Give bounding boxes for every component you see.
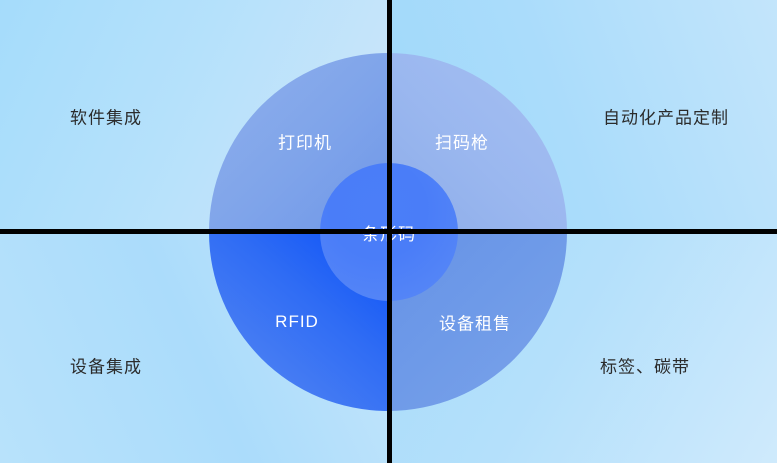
- outer-label-software-integration: 软件集成: [70, 104, 142, 129]
- outer-label-equipment-integration: 设备集成: [70, 353, 142, 378]
- diagram-canvas: 条形码 打印机 扫码枪 RFID 设备租售 软件集成 自动化产品定制 设备集成 …: [0, 0, 777, 463]
- outer-label-labels-ribbons: 标签、碳带: [600, 353, 690, 378]
- vertical-axis-line: [387, 0, 392, 463]
- ring-label-rental: 设备租售: [439, 310, 511, 335]
- outer-label-automation-custom: 自动化产品定制: [603, 104, 729, 129]
- ring-label-printer: 打印机: [278, 129, 332, 154]
- ring-label-scanner: 扫码枪: [435, 129, 489, 154]
- ring-label-rfid: RFID: [275, 312, 319, 332]
